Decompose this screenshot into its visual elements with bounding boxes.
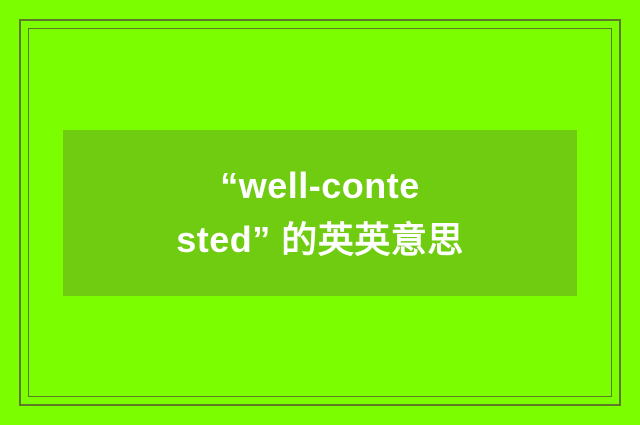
page-title: “well-conte sted” 的英英意思: [176, 159, 464, 267]
page-canvas: “well-conte sted” 的英英意思: [0, 0, 640, 425]
title-banner-panel: “well-conte sted” 的英英意思: [63, 130, 577, 296]
